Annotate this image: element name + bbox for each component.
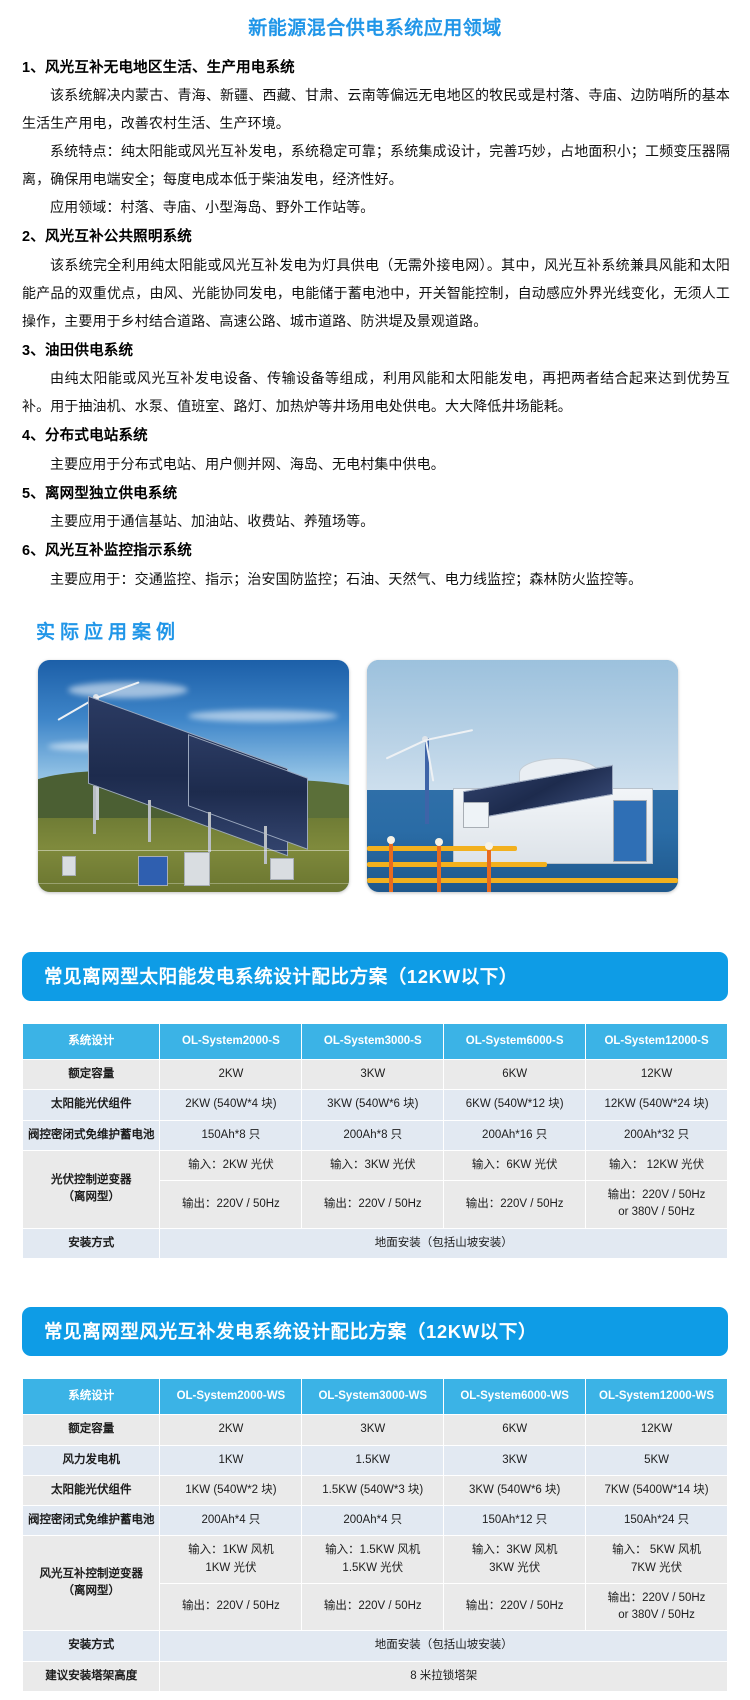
rail-ball bbox=[485, 842, 493, 850]
section-paragraph-1-1: 该系统解决内蒙古、青海、新疆、西藏、甘肃、云南等偏远无电地区的牧民或是村落、寺庙… bbox=[22, 81, 730, 137]
col-header-model-1: OL-System2000-WS bbox=[160, 1379, 302, 1415]
cell-inverter-input: 输入：2KW 光伏 bbox=[160, 1150, 302, 1180]
rail-post bbox=[389, 842, 393, 892]
equipment-box bbox=[270, 858, 294, 880]
support-post bbox=[93, 786, 96, 834]
cloud-shape bbox=[188, 710, 338, 722]
cell-value: 6KW (540W*12 块) bbox=[444, 1090, 586, 1120]
row-label-install: 安装方式 bbox=[23, 1631, 160, 1661]
cell-value: 3KW bbox=[302, 1415, 444, 1445]
safety-rail bbox=[367, 862, 547, 867]
cell-install-value: 地面安装（包括山坡安装） bbox=[160, 1228, 728, 1258]
rail-post bbox=[437, 844, 441, 892]
table-row: 阀控密闭式免维护蓄电池 200Ah*4 只 200Ah*4 只 150Ah*12… bbox=[23, 1506, 728, 1536]
row-label: 太阳能光伏组件 bbox=[23, 1090, 160, 1120]
cell-value: 3KW (540W*6 块) bbox=[302, 1090, 444, 1120]
col-header-model-4: OL-System12000-S bbox=[586, 1023, 728, 1059]
cell-value: 3KW bbox=[302, 1060, 444, 1090]
cell-value: 150Ah*8 只 bbox=[160, 1120, 302, 1150]
rail-ball bbox=[435, 838, 443, 846]
cell-inverter-output: 输出：220V / 50Hz bbox=[302, 1583, 444, 1631]
cell-value: 200Ah*16 只 bbox=[444, 1120, 586, 1150]
section-heading-5: 5、离网型独立供电系统 bbox=[22, 483, 730, 505]
section-paragraph-3-1: 由纯太阳能或风光互补发电设备、传输设备等组成，利用风能和太阳能发电，再把两者结合… bbox=[22, 364, 730, 420]
section-heading-2: 2、风光互补公共照明系统 bbox=[22, 226, 730, 248]
table-hybrid-spec: 系统设计 OL-System2000-WS OL-System3000-WS O… bbox=[22, 1378, 728, 1692]
cell-inverter-input: 输入：1.5KW 风机1.5KW 光伏 bbox=[302, 1536, 444, 1584]
col-header-model-3: OL-System6000-S bbox=[444, 1023, 586, 1059]
table-row-inverter-input: 光伏控制逆变器 （离网型） 输入：2KW 光伏 输入：3KW 光伏 输入：6KW… bbox=[23, 1150, 728, 1180]
col-header-system: 系统设计 bbox=[23, 1023, 160, 1059]
blue-door bbox=[613, 800, 647, 862]
table-header-row: 系统设计 OL-System2000-S OL-System3000-S OL-… bbox=[23, 1023, 728, 1059]
table-row: 阀控密闭式免维护蓄电池 150Ah*8 只 200Ah*8 只 200Ah*16… bbox=[23, 1120, 728, 1150]
equipment-box bbox=[184, 852, 210, 886]
section-paragraph-2-1: 该系统完全利用纯太阳能或风光互补发电为灯具供电（无需外接电网）。其中，风光互补系… bbox=[22, 251, 730, 335]
banner-hybrid-title: 常见离网型风光互补发电系统设计配比方案（12KW以下） bbox=[22, 1307, 728, 1356]
photo-coastal-station bbox=[367, 660, 678, 892]
cell-inverter-input: 输入： 12KW 光伏 bbox=[586, 1150, 728, 1180]
cell-inverter-output: 输出：220V / 50Hz bbox=[302, 1181, 444, 1229]
table-row: 额定容量 2KW 3KW 6KW 12KW bbox=[23, 1415, 728, 1445]
section-paragraph-4-1: 主要应用于分布式电站、用户侧并网、海岛、无电村集中供电。 bbox=[22, 450, 730, 478]
table-hybrid-head: 系统设计 OL-System2000-WS OL-System3000-WS O… bbox=[23, 1379, 728, 1415]
cell-inverter-output: 输出：220V / 50Hzor 380V / 50Hz bbox=[586, 1181, 728, 1229]
cell-inverter-input: 输入： 5KW 风机7KW 光伏 bbox=[586, 1536, 728, 1584]
inverter-label-line1: 光伏控制逆变器 bbox=[26, 1172, 156, 1189]
cell-tower-value: 8 米拉锁塔架 bbox=[160, 1661, 728, 1691]
page-title: 新能源混合供电系统应用领域 bbox=[0, 0, 750, 52]
row-label: 风力发电机 bbox=[23, 1445, 160, 1475]
row-label: 额定容量 bbox=[23, 1060, 160, 1090]
table-row: 太阳能光伏组件 2KW (540W*4 块) 3KW (540W*6 块) 6K… bbox=[23, 1090, 728, 1120]
table-hybrid-body: 额定容量 2KW 3KW 6KW 12KW 风力发电机 1KW 1.5KW 3K… bbox=[23, 1415, 728, 1692]
cell-inverter-input: 输入：3KW 风机3KW 光伏 bbox=[444, 1536, 586, 1584]
rail-ball bbox=[387, 836, 395, 844]
cell-inverter-input: 输入：1KW 风机1KW 光伏 bbox=[160, 1536, 302, 1584]
row-label-inverter: 光伏控制逆变器 （离网型） bbox=[23, 1150, 160, 1228]
safety-rail bbox=[367, 878, 678, 883]
cell-inverter-output: 输出：220V / 50Hz bbox=[444, 1181, 586, 1229]
banner-solar-title: 常见离网型太阳能发电系统设计配比方案（12KW以下） bbox=[22, 952, 728, 1001]
section-paragraph-5-1: 主要应用于通信基站、加油站、收费站、养殖场等。 bbox=[22, 507, 730, 535]
table-row-install: 安装方式 地面安装（包括山坡安装） bbox=[23, 1228, 728, 1258]
section-heading-4: 4、分布式电站系统 bbox=[22, 425, 730, 447]
inverter-label-line2: （离网型） bbox=[26, 1189, 156, 1206]
cell-value: 200Ah*4 只 bbox=[302, 1506, 444, 1536]
cell-value: 2KW bbox=[160, 1415, 302, 1445]
table-header-row: 系统设计 OL-System2000-WS OL-System3000-WS O… bbox=[23, 1379, 728, 1415]
cell-value: 1.5KW (540W*3 块) bbox=[302, 1475, 444, 1505]
section-paragraph-1-3: 应用领域：村落、寺庙、小型海岛、野外工作站等。 bbox=[22, 193, 730, 221]
photo-solar-grassland bbox=[38, 660, 349, 892]
inverter-label-line2: （离网型） bbox=[26, 1583, 156, 1600]
table-solar-wrap: 系统设计 OL-System2000-S OL-System3000-S OL-… bbox=[0, 1023, 750, 1259]
section-heading-6: 6、风光互补监控指示系统 bbox=[22, 540, 730, 562]
table-row: 风力发电机 1KW 1.5KW 3KW 5KW bbox=[23, 1445, 728, 1475]
cell-inverter-input: 输入：6KW 光伏 bbox=[444, 1150, 586, 1180]
cell-value: 12KW (540W*24 块) bbox=[586, 1090, 728, 1120]
table-row: 太阳能光伏组件 1KW (540W*2 块) 1.5KW (540W*3 块) … bbox=[23, 1475, 728, 1505]
section-paragraph-1-2: 系统特点：纯太阳能或风光互补发电，系统稳定可靠；系统集成设计，完善巧妙，占地面积… bbox=[22, 137, 730, 193]
row-label-inverter: 风光互补控制逆变器 （离网型） bbox=[23, 1536, 160, 1631]
table-row-inverter-input: 风光互补控制逆变器 （离网型） 输入：1KW 风机1KW 光伏 输入：1.5KW… bbox=[23, 1536, 728, 1584]
table-row-install: 安装方式 地面安装（包括山坡安装） bbox=[23, 1631, 728, 1661]
row-label: 阀控密闭式免维护蓄电池 bbox=[23, 1506, 160, 1536]
rail-post bbox=[487, 848, 491, 892]
cell-value: 2KW bbox=[160, 1060, 302, 1090]
inverter-label-line1: 风光互补控制逆变器 bbox=[26, 1566, 156, 1583]
cell-value: 200Ah*8 只 bbox=[302, 1120, 444, 1150]
cell-value: 150Ah*12 只 bbox=[444, 1506, 586, 1536]
section-heading-3: 3、油田供电系统 bbox=[22, 340, 730, 362]
photo-gallery bbox=[0, 654, 750, 892]
table-solar-body: 额定容量 2KW 3KW 6KW 12KW 太阳能光伏组件 2KW (540W*… bbox=[23, 1060, 728, 1259]
cell-value: 200Ah*32 只 bbox=[586, 1120, 728, 1150]
cell-value: 1KW bbox=[160, 1445, 302, 1475]
support-post bbox=[208, 812, 211, 852]
equipment-box bbox=[62, 856, 76, 876]
cell-value: 3KW (540W*6 块) bbox=[444, 1475, 586, 1505]
support-post bbox=[148, 800, 151, 842]
cell-value: 200Ah*4 只 bbox=[160, 1506, 302, 1536]
cell-value: 150Ah*24 只 bbox=[586, 1506, 728, 1536]
cases-heading: 实际应用案例 bbox=[0, 593, 750, 654]
col-header-model-4: OL-System12000-WS bbox=[586, 1379, 728, 1415]
col-header-model-2: OL-System3000-S bbox=[302, 1023, 444, 1059]
table-solar-head: 系统设计 OL-System2000-S OL-System3000-S OL-… bbox=[23, 1023, 728, 1059]
equipment-box bbox=[138, 856, 168, 886]
cell-value: 5KW bbox=[586, 1445, 728, 1475]
banner-hybrid-wrap: 常见离网型风光互补发电系统设计配比方案（12KW以下） bbox=[0, 1307, 750, 1356]
row-label-install: 安装方式 bbox=[23, 1228, 160, 1258]
cell-inverter-output: 输出：220V / 50Hz bbox=[160, 1181, 302, 1229]
row-label: 太阳能光伏组件 bbox=[23, 1475, 160, 1505]
cell-value: 6KW bbox=[444, 1415, 586, 1445]
col-header-model-2: OL-System3000-WS bbox=[302, 1379, 444, 1415]
article-body: 1、风光互补无电地区生活、生产用电系统 该系统解决内蒙古、青海、新疆、西藏、甘肃… bbox=[0, 57, 750, 593]
section-heading-1: 1、风光互补无电地区生活、生产用电系统 bbox=[22, 57, 730, 79]
cell-value: 3KW bbox=[444, 1445, 586, 1475]
cell-value: 12KW bbox=[586, 1415, 728, 1445]
cell-install-value: 地面安装（包括山坡安装） bbox=[160, 1631, 728, 1661]
cell-inverter-output: 输出：220V / 50Hzor 380V / 50Hz bbox=[586, 1583, 728, 1631]
section-paragraph-6-1: 主要应用于：交通监控、指示；治安国防监控；石油、天然气、电力线监控；森林防火监控… bbox=[22, 565, 730, 593]
page-root: 新能源混合供电系统应用领域 1、风光互补无电地区生活、生产用电系统 该系统解决内… bbox=[0, 0, 750, 1700]
cabin-window bbox=[463, 802, 489, 828]
cell-inverter-output: 输出：220V / 50Hz bbox=[160, 1583, 302, 1631]
col-header-model-1: OL-System2000-S bbox=[160, 1023, 302, 1059]
row-label: 阀控密闭式免维护蓄电池 bbox=[23, 1120, 160, 1150]
table-row: 额定容量 2KW 3KW 6KW 12KW bbox=[23, 1060, 728, 1090]
cell-value: 7KW (5400W*14 块) bbox=[586, 1475, 728, 1505]
cell-value: 6KW bbox=[444, 1060, 586, 1090]
cell-value: 1.5KW bbox=[302, 1445, 444, 1475]
col-header-model-3: OL-System6000-WS bbox=[444, 1379, 586, 1415]
cell-value: 2KW (540W*4 块) bbox=[160, 1090, 302, 1120]
cell-inverter-input: 输入：3KW 光伏 bbox=[302, 1150, 444, 1180]
cell-value: 1KW (540W*2 块) bbox=[160, 1475, 302, 1505]
table-hybrid-wrap: 系统设计 OL-System2000-WS OL-System3000-WS O… bbox=[0, 1378, 750, 1692]
row-label-tower: 建议安装塔架高度 bbox=[23, 1661, 160, 1691]
row-label: 额定容量 bbox=[23, 1415, 160, 1445]
cell-inverter-output: 输出：220V / 50Hz bbox=[444, 1583, 586, 1631]
table-row-tower: 建议安装塔架高度 8 米拉锁塔架 bbox=[23, 1661, 728, 1691]
col-header-system: 系统设计 bbox=[23, 1379, 160, 1415]
cell-value: 12KW bbox=[586, 1060, 728, 1090]
table-solar-spec: 系统设计 OL-System2000-S OL-System3000-S OL-… bbox=[22, 1023, 728, 1259]
banner-solar-wrap: 常见离网型太阳能发电系统设计配比方案（12KW以下） bbox=[0, 952, 750, 1001]
